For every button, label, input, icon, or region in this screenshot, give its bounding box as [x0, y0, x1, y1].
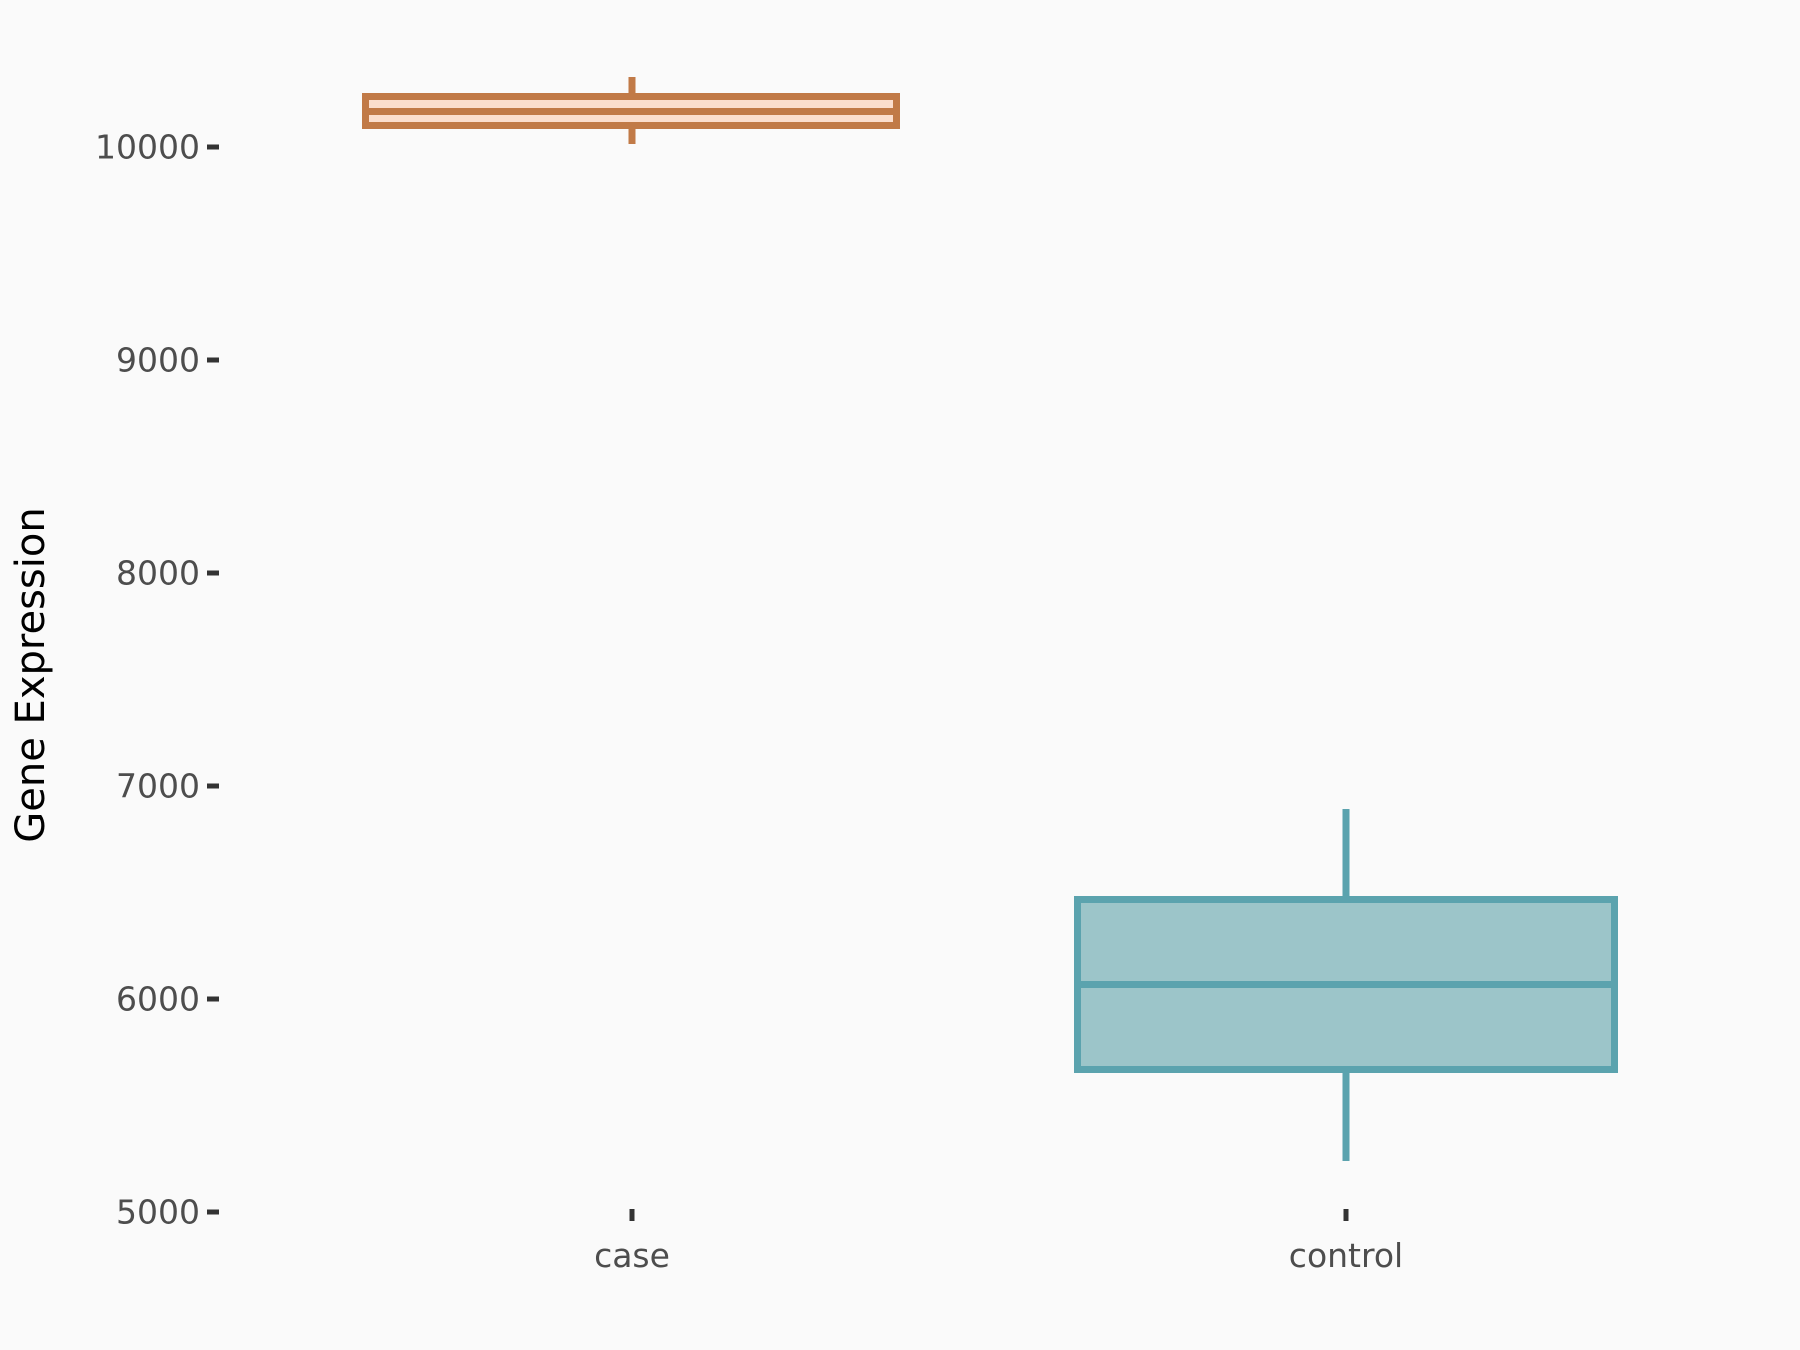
box-plot-control[interactable]	[0, 0, 1800, 1350]
median-line	[1074, 981, 1618, 988]
boxplot-figure: Gene Expression 100009000800070006000500…	[0, 0, 1800, 1350]
whisker-upper	[1343, 809, 1350, 896]
whisker-lower	[1343, 1073, 1350, 1161]
